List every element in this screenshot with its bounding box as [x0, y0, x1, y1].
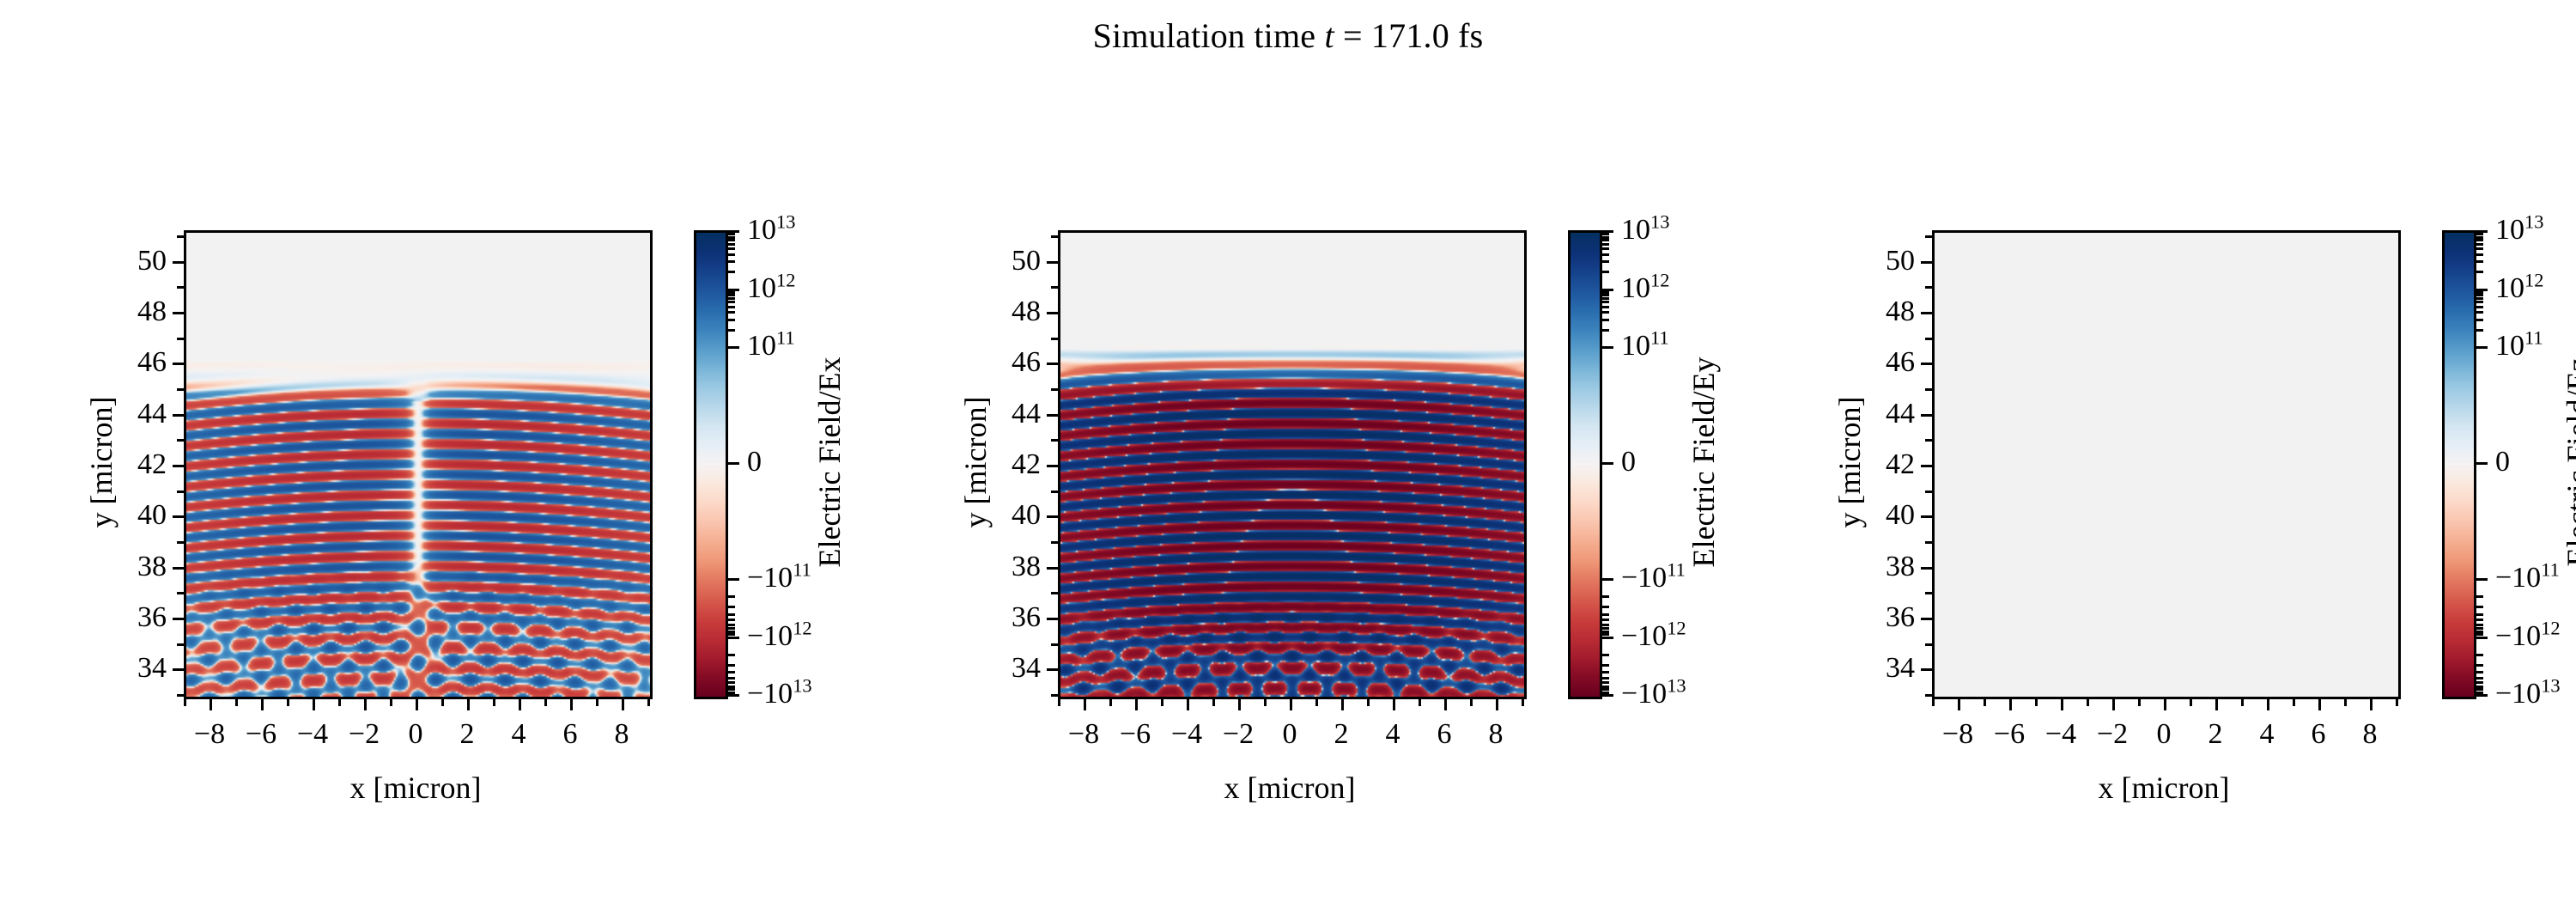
x-tick-major — [1238, 699, 1241, 710]
y-tick-label: 36 — [1886, 601, 1915, 634]
x-tick-minor — [2293, 699, 2295, 706]
colorbar-tick-minor — [2476, 239, 2483, 241]
y-tick-major — [173, 668, 184, 671]
colorbar-tick-label: 1012 — [747, 272, 795, 305]
y-tick-minor — [1925, 643, 1932, 646]
x-tick-label: −8 — [1068, 718, 1099, 751]
y-tick-minor — [1925, 235, 1932, 238]
colorbar-tick-minor — [1602, 239, 1609, 241]
y-tick-minor — [177, 235, 184, 238]
x-axis-label: x [micron] — [1058, 770, 1522, 806]
y-tick-major — [1921, 567, 1932, 570]
colorbar-tick-label: −1011 — [1621, 562, 1686, 594]
colorbar-tick-minor — [1602, 271, 1609, 273]
axes-ex — [184, 230, 653, 699]
colorbar-tick-label: 1013 — [1621, 214, 1669, 247]
x-tick-minor — [596, 699, 598, 706]
y-tick-minor — [177, 491, 184, 493]
colorbar-tick-label: 0 — [1621, 446, 1636, 478]
x-tick-minor — [2241, 699, 2244, 706]
y-tick-label: 38 — [137, 551, 167, 583]
x-tick-minor — [647, 699, 650, 706]
colorbar-tick-minor — [728, 627, 735, 630]
x-tick-label: −4 — [1171, 718, 1202, 751]
y-tick-major — [1921, 618, 1932, 620]
colorbar-tick-minor — [1602, 686, 1609, 688]
figure-title-value: = 171.0 fs — [1334, 16, 1484, 55]
colorbar-tick-minor — [2476, 294, 2483, 296]
colorbar-image — [2445, 233, 2474, 697]
x-tick-minor — [1984, 699, 1986, 706]
y-axis-label: y [micron] — [83, 397, 119, 528]
colorbar-tick-minor — [1602, 681, 1609, 684]
colorbar-tick-minor — [728, 654, 735, 656]
colorbar-tick-minor — [2476, 633, 2483, 636]
x-tick-major — [570, 699, 573, 710]
x-tick-minor — [1212, 699, 1215, 706]
colorbar-tick-label: 1012 — [1621, 272, 1669, 305]
colorbar-tick-minor — [728, 671, 735, 673]
colorbar-tick-minor — [2476, 306, 2483, 308]
x-tick-minor — [1932, 699, 1935, 706]
colorbar-tick-minor — [1602, 236, 1609, 239]
y-tick-major — [1921, 363, 1932, 365]
colorbar-tick-minor — [2476, 236, 2483, 239]
colorbar-tick-minor — [728, 301, 735, 303]
y-tick-label: 38 — [1886, 551, 1915, 583]
y-tick-minor — [177, 541, 184, 544]
x-tick-major — [1187, 699, 1189, 710]
colorbar-image — [1571, 233, 1600, 697]
x-tick-major — [467, 699, 470, 710]
x-tick-label: 6 — [2312, 718, 2326, 751]
x-tick-label: 4 — [1386, 718, 1400, 751]
colorbar-tick-minor — [728, 236, 735, 239]
y-tick-major — [1921, 312, 1932, 314]
colorbar-tick-minor — [728, 681, 735, 684]
colorbar-tick-minor — [728, 297, 735, 300]
colorbar-tick-major — [2476, 637, 2488, 639]
colorbar-ez: 1013101210110−1011−1012−1013Electric Fie… — [2442, 230, 2471, 694]
y-tick-minor — [1925, 388, 1932, 391]
x-tick-label: 0 — [409, 718, 423, 751]
colorbar-tick-minor — [1602, 297, 1609, 300]
figure-title-prefix: Simulation time — [1093, 16, 1325, 55]
colorbar-gradient — [1568, 230, 1602, 699]
colorbar-tick-label: 1011 — [2495, 330, 2543, 363]
y-tick-label: 36 — [1012, 601, 1041, 634]
colorbar-tick-major — [2476, 462, 2488, 465]
y-tick-label: 40 — [137, 499, 167, 532]
y-tick-label: 40 — [1886, 499, 1915, 532]
colorbar-tick-major — [728, 346, 739, 349]
y-tick-minor — [177, 439, 184, 442]
colorbar-tick-minor — [2476, 297, 2483, 300]
x-axis-label: x [micron] — [184, 770, 647, 806]
x-tick-minor — [1109, 699, 1112, 706]
x-tick-minor — [2035, 699, 2038, 706]
colorbar-tick-minor — [1602, 664, 1609, 667]
colorbar-tick-minor — [728, 677, 735, 680]
colorbar-gradient — [694, 230, 728, 699]
x-tick-major — [261, 699, 264, 710]
colorbar-tick-label: −1013 — [747, 678, 812, 710]
colorbar-tick-minor — [728, 239, 735, 241]
y-tick-major — [1921, 465, 1932, 467]
y-tick-major — [1921, 515, 1932, 518]
x-tick-label: −6 — [246, 718, 276, 751]
x-tick-minor — [235, 699, 238, 706]
x-tick-minor — [441, 699, 444, 706]
y-tick-label: 50 — [1886, 245, 1915, 277]
y-tick-label: 48 — [1012, 296, 1041, 328]
colorbar-tick-major — [2476, 694, 2488, 697]
colorbar-tick-minor — [1602, 613, 1609, 616]
colorbar-tick-minor — [1602, 233, 1609, 235]
colorbar-tick-minor — [1602, 654, 1609, 656]
y-tick-minor — [1925, 491, 1932, 493]
x-tick-label: 2 — [1334, 718, 1349, 751]
y-tick-label: 40 — [1012, 499, 1041, 532]
x-tick-label: 6 — [1437, 718, 1452, 751]
x-tick-major — [2267, 699, 2269, 710]
x-tick-major — [1135, 699, 1138, 710]
x-tick-major — [364, 699, 367, 710]
colorbar-tick-minor — [1602, 627, 1609, 630]
colorbar-tick-minor — [2476, 624, 2483, 626]
colorbar-tick-minor — [728, 247, 735, 250]
colorbar-tick-minor — [1602, 319, 1609, 321]
colorbar-tick-minor — [728, 633, 735, 636]
x-tick-minor — [1470, 699, 1473, 706]
x-tick-major — [210, 699, 212, 710]
colorbar-tick-minor — [2476, 301, 2483, 303]
x-tick-label: 8 — [615, 718, 629, 751]
colorbar-tick-minor — [1602, 595, 1609, 598]
colorbar-tick-label: −1011 — [747, 562, 811, 594]
x-tick-major — [1393, 699, 1395, 710]
colorbar-tick-minor — [2476, 243, 2483, 246]
x-tick-minor — [1264, 699, 1267, 706]
x-tick-minor — [2344, 699, 2347, 706]
x-tick-minor — [287, 699, 289, 706]
y-tick-minor — [1051, 286, 1058, 289]
colorbar-tick-minor — [1602, 671, 1609, 673]
colorbar-tick-major — [728, 578, 739, 581]
y-tick-minor — [1051, 235, 1058, 238]
colorbar-tick-major — [2476, 578, 2488, 581]
y-tick-minor — [1925, 286, 1932, 289]
colorbar-tick-minor — [728, 294, 735, 296]
x-tick-label: −4 — [297, 718, 328, 751]
y-tick-major — [1921, 414, 1932, 417]
colorbar-tick-minor — [2476, 233, 2483, 235]
x-tick-minor — [1419, 699, 1421, 706]
colorbar-tick-minor — [2476, 664, 2483, 667]
colorbar-tick-major — [728, 462, 739, 465]
colorbar-tick-minor — [728, 619, 735, 621]
y-tick-minor — [1051, 439, 1058, 442]
colorbar-tick-label: −1011 — [2495, 562, 2560, 594]
x-tick-label: −2 — [2097, 718, 2128, 751]
y-tick-label: 50 — [1012, 245, 1041, 277]
colorbar-image — [696, 233, 726, 697]
colorbar-tick-minor — [728, 253, 735, 256]
colorbar-tick-label: 1011 — [1621, 330, 1669, 363]
colorbar-tick-major — [1602, 462, 1613, 465]
figure-title-variable: t — [1324, 16, 1334, 55]
colorbar-tick-minor — [1602, 247, 1609, 250]
y-tick-major — [1047, 465, 1058, 467]
colorbar-tick-minor — [2476, 692, 2483, 694]
y-tick-major — [1047, 515, 1058, 518]
colorbar-tick-minor — [728, 243, 735, 246]
x-tick-major — [416, 699, 418, 710]
colorbar-tick-minor — [728, 233, 735, 235]
colorbar-tick-minor — [1602, 311, 1609, 314]
y-tick-label: 46 — [1886, 346, 1915, 379]
colorbar-tick-minor — [1602, 243, 1609, 246]
colorbar-tick-minor — [728, 613, 735, 616]
x-tick-major — [622, 699, 624, 710]
y-tick-label: 42 — [1886, 448, 1915, 481]
y-tick-label: 48 — [137, 296, 167, 328]
y-tick-minor — [1925, 694, 1932, 697]
colorbar-tick-minor — [728, 692, 735, 694]
x-axis-label: x [micron] — [1932, 770, 2396, 806]
y-tick-minor — [1051, 592, 1058, 594]
x-tick-minor — [338, 699, 341, 706]
colorbar-tick-minor — [2476, 311, 2483, 314]
colorbar-tick-minor — [728, 260, 735, 263]
colorbar-tick-minor — [728, 686, 735, 688]
x-tick-label: −4 — [2045, 718, 2076, 751]
x-tick-label: 4 — [2260, 718, 2275, 751]
colorbar-tick-label: −1013 — [2495, 678, 2561, 710]
colorbar-tick-minor — [728, 291, 735, 294]
colorbar-tick-minor — [2476, 595, 2483, 598]
colorbar-tick-minor — [1602, 677, 1609, 680]
x-tick-minor — [544, 699, 547, 706]
y-tick-label: 34 — [1012, 652, 1041, 685]
x-tick-label: 6 — [563, 718, 578, 751]
x-tick-label: 0 — [2157, 718, 2172, 751]
x-tick-minor — [184, 699, 186, 706]
colorbar-tick-minor — [2476, 247, 2483, 250]
y-tick-label: 50 — [137, 245, 167, 277]
y-tick-major — [1047, 363, 1058, 365]
y-tick-major — [173, 312, 184, 314]
colorbar-tick-major — [1602, 694, 1613, 697]
y-tick-label: 38 — [1012, 551, 1041, 583]
colorbar-ey: 1013101210110−1011−1012−1013Electric Fie… — [1568, 230, 1597, 694]
x-tick-major — [1084, 699, 1086, 710]
colorbar-tick-minor — [2476, 681, 2483, 684]
x-tick-minor — [493, 699, 495, 706]
colorbar-tick-minor — [2476, 291, 2483, 294]
colorbar-tick-minor — [1602, 329, 1609, 332]
colorbar-tick-minor — [2476, 253, 2483, 256]
colorbar-tick-minor — [728, 319, 735, 321]
y-tick-minor — [1051, 541, 1058, 544]
colorbar-tick-major — [1602, 578, 1613, 581]
x-tick-major — [2370, 699, 2372, 710]
y-axis-label: y [micron] — [957, 397, 993, 528]
colorbar-tick-major — [1602, 346, 1613, 349]
x-tick-major — [2318, 699, 2321, 710]
colorbar-tick-minor — [728, 271, 735, 273]
x-tick-label: −2 — [1223, 718, 1254, 751]
colorbar-tick-minor — [2476, 686, 2483, 688]
x-tick-minor — [390, 699, 392, 706]
y-tick-label: 42 — [137, 448, 167, 481]
colorbar-tick-minor — [1602, 306, 1609, 308]
colorbar-tick-minor — [2476, 671, 2483, 673]
y-tick-minor — [1051, 694, 1058, 697]
x-tick-major — [2164, 699, 2166, 710]
y-tick-major — [1047, 618, 1058, 620]
colorbar-tick-label: 0 — [2495, 446, 2510, 478]
colorbar-tick-minor — [2476, 260, 2483, 263]
colorbar-tick-minor — [1602, 692, 1609, 694]
colorbar-label: Electric Field/Ex — [811, 357, 848, 568]
y-tick-label: 42 — [1012, 448, 1041, 481]
x-tick-minor — [1058, 699, 1060, 706]
y-tick-minor — [177, 388, 184, 391]
x-tick-major — [1958, 699, 1960, 710]
y-tick-major — [1921, 261, 1932, 264]
colorbar-tick-minor — [2476, 627, 2483, 630]
colorbar-tick-label: 1013 — [2495, 214, 2543, 247]
colorbar-label: Electric Field/Ez — [2560, 358, 2576, 567]
axes-ez — [1932, 230, 2401, 699]
field-image-ey — [1060, 233, 1524, 697]
y-tick-major — [173, 261, 184, 264]
y-tick-major — [1047, 312, 1058, 314]
x-tick-minor — [2190, 699, 2192, 706]
colorbar-tick-label: −1012 — [747, 620, 812, 653]
x-tick-label: −8 — [1942, 718, 1973, 751]
x-tick-minor — [1367, 699, 1370, 706]
x-tick-label: −6 — [1120, 718, 1151, 751]
x-tick-major — [2112, 699, 2115, 710]
colorbar-tick-minor — [2476, 606, 2483, 608]
axes-ey — [1058, 230, 1527, 699]
y-tick-minor — [177, 694, 184, 697]
x-tick-label: −2 — [349, 718, 380, 751]
x-tick-label: −8 — [194, 718, 225, 751]
colorbar-tick-minor — [1602, 294, 1609, 296]
y-tick-label: 44 — [1012, 398, 1041, 430]
y-tick-major — [173, 363, 184, 365]
colorbar-tick-label: −1012 — [2495, 620, 2561, 653]
colorbar-label: Electric Field/Ey — [1686, 357, 1722, 568]
x-tick-label: −6 — [1994, 718, 2025, 751]
colorbar-tick-minor — [728, 624, 735, 626]
x-tick-label: 2 — [460, 718, 475, 751]
colorbar-tick-minor — [2476, 319, 2483, 321]
colorbar-tick-minor — [728, 664, 735, 667]
colorbar-tick-minor — [2476, 677, 2483, 680]
x-tick-minor — [2087, 699, 2089, 706]
colorbar-tick-label: 1012 — [2495, 272, 2543, 305]
colorbar-tick-minor — [2476, 619, 2483, 621]
colorbar-tick-minor — [2476, 654, 2483, 656]
x-tick-minor — [1522, 699, 1524, 706]
colorbar-tick-minor — [2476, 329, 2483, 332]
y-tick-label: 34 — [137, 652, 167, 685]
x-tick-major — [313, 699, 315, 710]
x-tick-minor — [2396, 699, 2398, 706]
y-tick-minor — [1051, 491, 1058, 493]
colorbar-tick-minor — [2476, 271, 2483, 273]
colorbar-tick-minor — [728, 595, 735, 598]
colorbar-tick-minor — [1602, 633, 1609, 636]
field-image-ex — [186, 233, 650, 697]
colorbar-tick-label: −1012 — [1621, 620, 1686, 653]
colorbar-tick-minor — [1602, 619, 1609, 621]
x-tick-minor — [2138, 699, 2141, 706]
x-tick-label: 8 — [1489, 718, 1504, 751]
colorbar-tick-minor — [728, 329, 735, 332]
y-tick-label: 44 — [137, 398, 167, 430]
colorbar-ex: 1013101210110−1011−1012−1013Electric Fie… — [694, 230, 723, 694]
colorbar-tick-major — [728, 694, 739, 697]
colorbar-tick-minor — [1602, 606, 1609, 608]
x-tick-minor — [1315, 699, 1318, 706]
colorbar-tick-label: 1013 — [747, 214, 795, 247]
y-tick-major — [173, 414, 184, 417]
y-tick-label: 46 — [137, 346, 167, 379]
y-tick-major — [173, 515, 184, 518]
y-tick-major — [1047, 261, 1058, 264]
x-tick-major — [1496, 699, 1498, 710]
x-tick-major — [1444, 699, 1447, 710]
y-tick-major — [1921, 668, 1932, 671]
y-tick-major — [173, 465, 184, 467]
y-tick-minor — [177, 338, 184, 340]
x-tick-label: 4 — [512, 718, 526, 751]
x-tick-major — [2009, 699, 2012, 710]
field-image-ez — [1935, 233, 2398, 697]
y-axis-label: y [micron] — [1832, 397, 1868, 528]
y-tick-major — [173, 618, 184, 620]
y-tick-major — [173, 567, 184, 570]
colorbar-tick-minor — [1602, 291, 1609, 294]
x-tick-label: 2 — [2208, 718, 2223, 751]
y-tick-major — [1047, 668, 1058, 671]
x-tick-major — [2061, 699, 2063, 710]
colorbar-tick-minor — [2476, 613, 2483, 616]
y-tick-minor — [1051, 338, 1058, 340]
colorbar-tick-major — [1602, 637, 1613, 639]
colorbar-tick-major — [728, 637, 739, 639]
y-tick-minor — [1051, 643, 1058, 646]
x-tick-major — [1341, 699, 1344, 710]
colorbar-tick-label: −1013 — [1621, 678, 1686, 710]
colorbar-gradient — [2442, 230, 2476, 699]
y-tick-minor — [1051, 388, 1058, 391]
y-tick-label: 46 — [1012, 346, 1041, 379]
y-tick-label: 48 — [1886, 296, 1915, 328]
y-tick-minor — [1925, 592, 1932, 594]
colorbar-tick-minor — [1602, 260, 1609, 263]
y-tick-label: 34 — [1886, 652, 1915, 685]
y-tick-minor — [1925, 338, 1932, 340]
colorbar-tick-minor — [728, 606, 735, 608]
y-tick-minor — [1925, 541, 1932, 544]
y-tick-major — [1047, 414, 1058, 417]
